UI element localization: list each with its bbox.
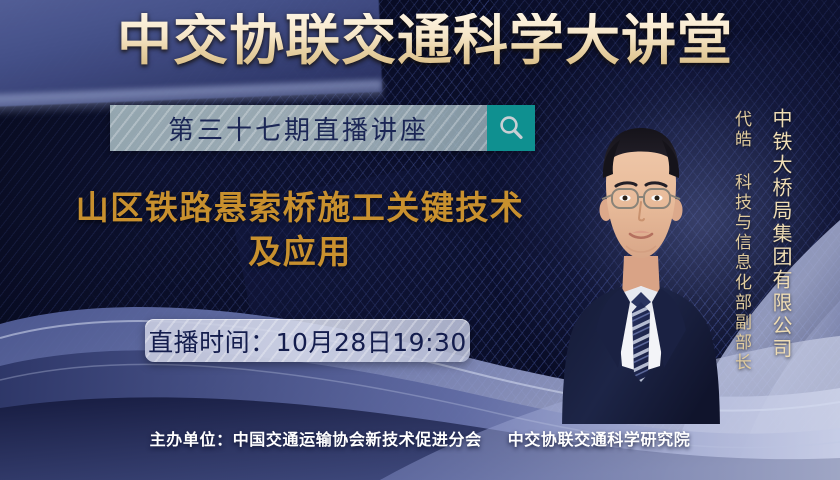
organizer-org1: 中国交通运输协会新技术促进分会 [233,430,482,449]
organizer-prefix: 主办单位： [150,430,233,449]
lecture-title-line2: 及应用 [30,230,570,274]
series-bar: 第三十七期直播讲座 [110,105,535,151]
broadcast-time-text: 直播时间：10月28日19:30 [148,323,467,359]
organizer-line: 主办单位：中国交通运输协会新技术促进分会中交协联交通科学研究院 [0,426,840,450]
search-icon-box[interactable] [487,105,535,151]
speaker-name-role: 代皓 科技与信息化部副部长 [729,110,754,373]
series-bar-body: 第三十七期直播讲座 [110,105,487,151]
organizer-org2: 中交协联交通科学研究院 [508,430,691,449]
lecture-title-line1: 山区铁路悬索桥施工关键技术 [76,188,525,227]
speaker-portrait [556,106,726,436]
series-label: 第三十七期直播讲座 [168,110,429,147]
speaker-organization: 中铁大桥局集团有限公司 [767,108,796,361]
poster-canvas: 中交协联交通科学大讲堂 中交协联交通科学大讲堂 第三十七期直播讲座 山区铁路悬索… [0,0,840,480]
search-icon [496,113,526,143]
broadcast-time-pill: 直播时间：10月28日19:30 [145,319,470,362]
main-title: 中交协联交通科学大讲堂 [0,13,840,68]
lecture-title: 山区铁路悬索桥施工关键技术 及应用 [30,186,570,274]
